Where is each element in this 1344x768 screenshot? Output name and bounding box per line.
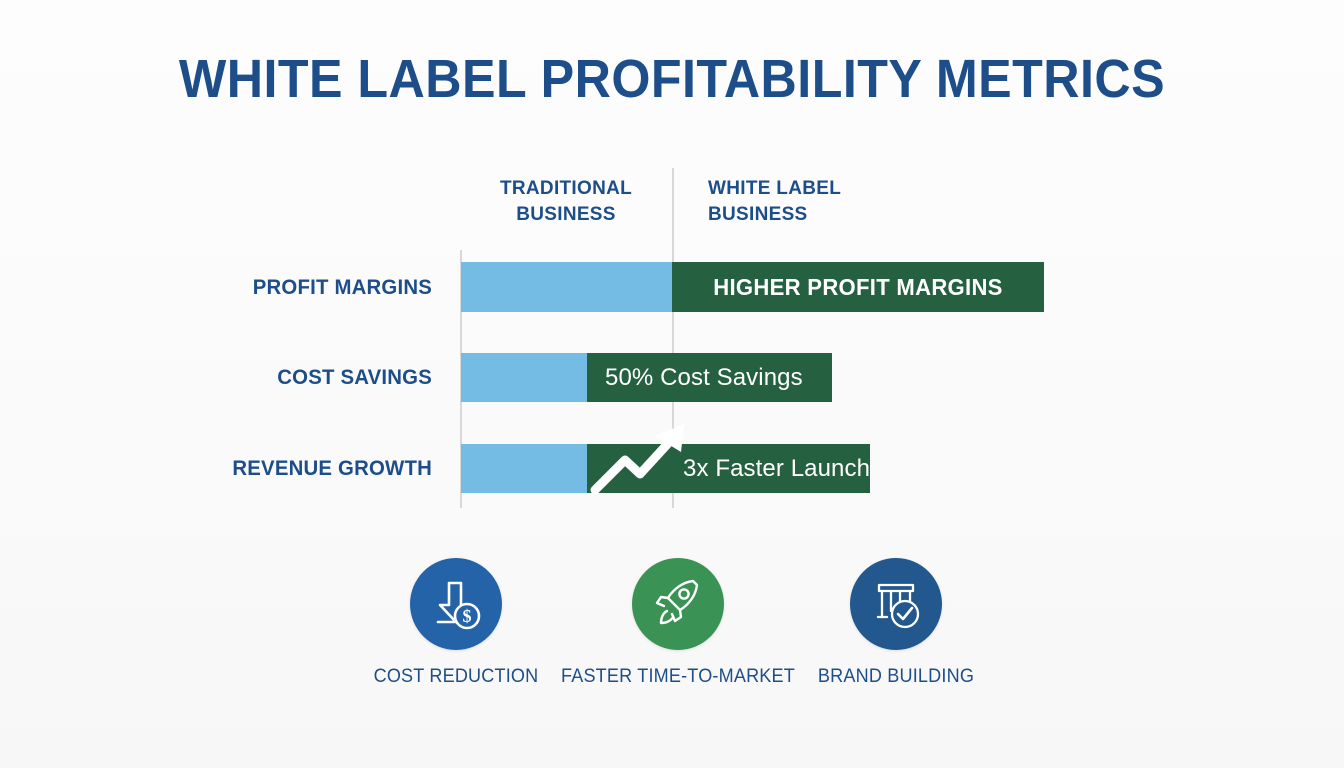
cost-reduction-circle: $ (410, 558, 502, 650)
cost-reduction-icon: $ (427, 575, 485, 633)
bar-value-revenue-growth: 3x Faster Launch (683, 455, 870, 483)
bar-value-cost-savings: 50% Cost Savings (605, 364, 803, 392)
row-label-cost-savings: COST SAVINGS (129, 366, 432, 390)
brand-building-icon (867, 575, 925, 633)
bar-white-label-cost-savings: 50% Cost Savings (587, 353, 832, 402)
infographic-slide: WHITE LABEL PROFITABILITY METRICS TRADIT… (0, 0, 1344, 768)
bar-traditional-revenue-growth (461, 444, 588, 493)
benefit-caption-brand-building: BRAND BUILDING (777, 666, 1015, 688)
benefit-faster-time-to-market[interactable]: FASTER TIME-TO-MARKET (553, 558, 803, 688)
brand-building-circle (850, 558, 942, 650)
column-header-white-label: WHITE LABEL BUSINESS (708, 176, 978, 228)
row-label-profit-margins: PROFIT MARGINS (129, 276, 432, 300)
bar-white-label-profit-margins: HIGHER PROFIT MARGINS (672, 262, 1044, 312)
bar-white-label-revenue-growth: 3x Faster Launch (587, 444, 870, 493)
rocket-icon (649, 575, 707, 633)
svg-text:$: $ (463, 606, 472, 626)
column-header-traditional: TRADITIONAL BUSINESS (460, 176, 672, 228)
benefits-row: $ COST REDUCTION FASTER TIME-TO-MARKET (0, 558, 1344, 718)
benefit-caption-cost-reduction: COST REDUCTION (337, 666, 575, 688)
bar-traditional-cost-savings (461, 353, 588, 402)
bar-traditional-profit-margins (461, 262, 672, 312)
bar-value-profit-margins: HIGHER PROFIT MARGINS (679, 274, 1036, 301)
benefit-cost-reduction[interactable]: $ COST REDUCTION (331, 558, 581, 688)
benefit-brand-building[interactable]: BRAND BUILDING (771, 558, 1021, 688)
row-label-revenue-growth: REVENUE GROWTH (129, 457, 432, 481)
rocket-circle (632, 558, 724, 650)
benefit-caption-faster-time-to-market: FASTER TIME-TO-MARKET (559, 666, 797, 688)
